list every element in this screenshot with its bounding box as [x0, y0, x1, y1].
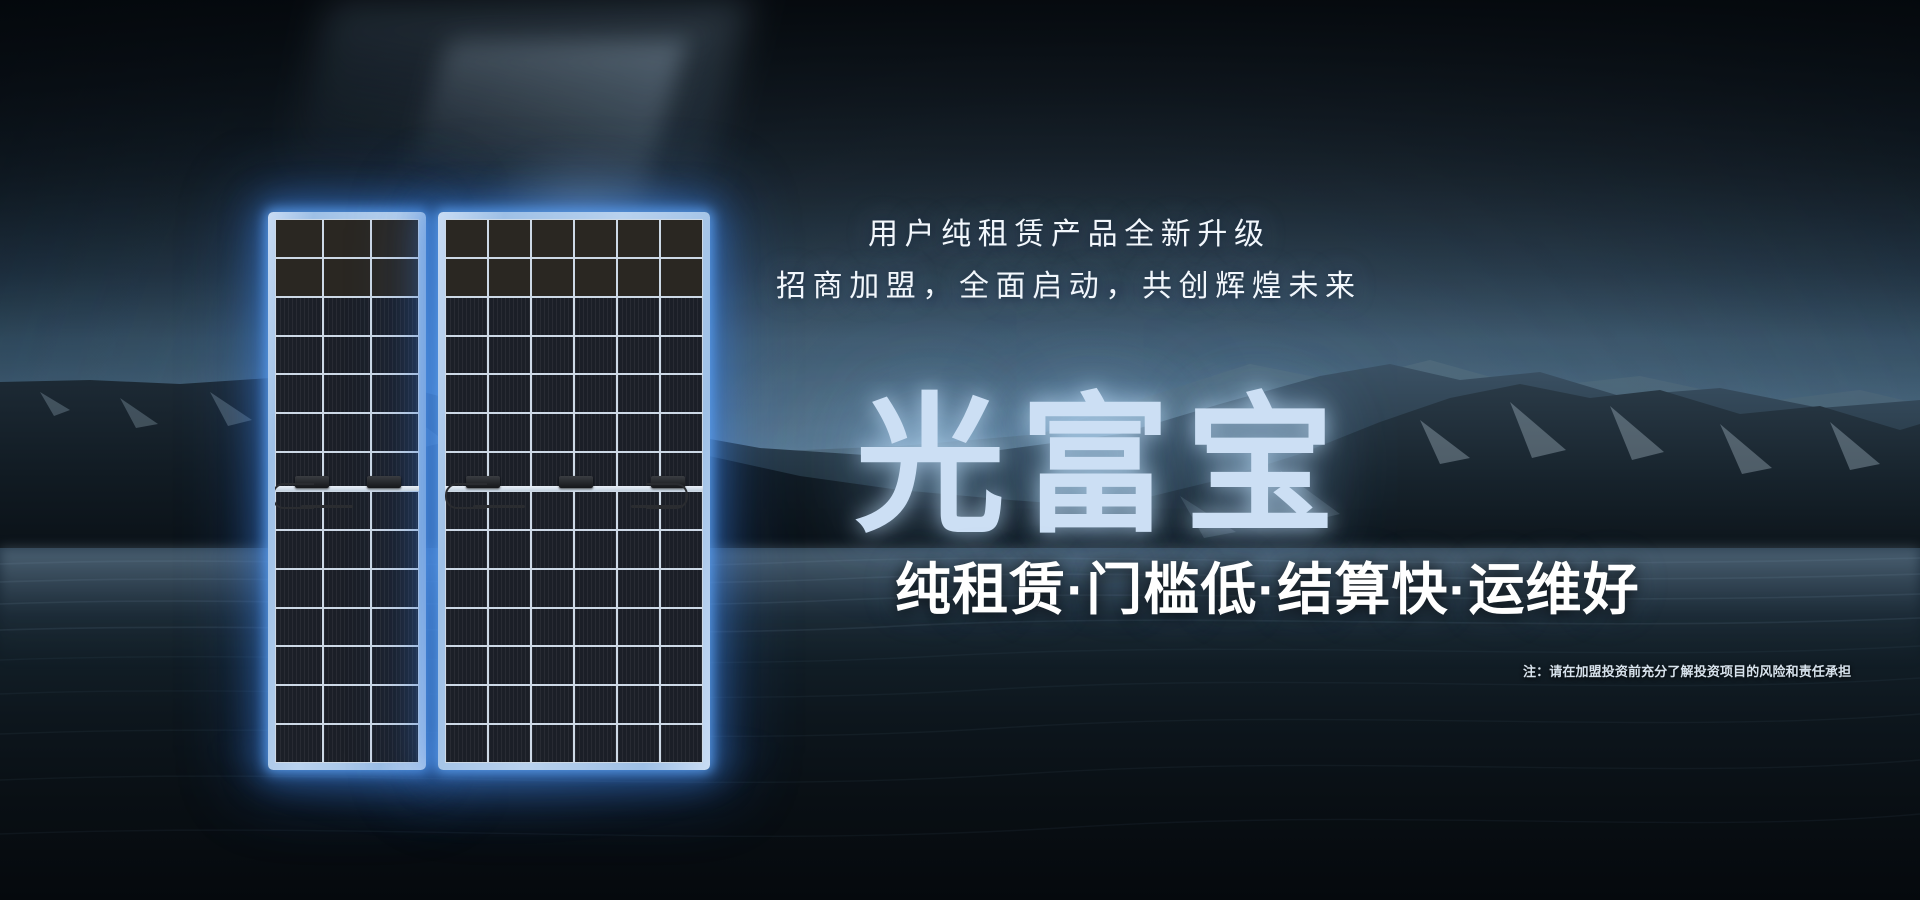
- pv-cell: [489, 337, 530, 374]
- pv-cell: [618, 570, 659, 607]
- pv-cell: [618, 531, 659, 568]
- pv-cell: [276, 531, 322, 568]
- pv-cell: [276, 647, 322, 684]
- brand-wordmark: 光富宝: [855, 345, 1350, 562]
- pv-cell: [618, 375, 659, 412]
- pv-cell: [532, 298, 573, 335]
- pv-cell: [446, 259, 487, 296]
- pv-cell: [324, 298, 370, 335]
- pv-cell: [661, 531, 702, 568]
- pv-cell: [372, 570, 418, 607]
- pv-cell: [372, 414, 418, 451]
- pv-cell: [532, 531, 573, 568]
- pv-cell: [324, 492, 370, 529]
- pv-cell: [446, 298, 487, 335]
- pv-cell: [324, 725, 370, 762]
- cable-run-icon: [473, 505, 525, 508]
- pv-cell: [661, 337, 702, 374]
- pv-cell: [276, 298, 322, 335]
- pv-cell: [276, 609, 322, 646]
- pv-cell: [324, 220, 370, 257]
- pv-cell: [532, 337, 573, 374]
- pv-cell: [372, 609, 418, 646]
- pv-cell: [575, 298, 616, 335]
- pv-cell: [489, 570, 530, 607]
- pv-cell: [372, 492, 418, 529]
- pv-cell: [276, 686, 322, 723]
- pv-cell: [372, 686, 418, 723]
- pv-cell: [446, 414, 487, 451]
- pv-cell: [661, 298, 702, 335]
- pv-cell: [372, 298, 418, 335]
- pv-cell: [489, 414, 530, 451]
- pv-cell: [372, 259, 418, 296]
- cable-run-icon: [631, 505, 683, 508]
- pv-cell: [446, 647, 487, 684]
- pv-cell: [575, 414, 616, 451]
- pv-cell: [489, 492, 530, 529]
- pv-cell: [618, 298, 659, 335]
- pv-cell: [489, 725, 530, 762]
- pv-cell: [532, 259, 573, 296]
- pv-cell: [276, 414, 322, 451]
- pv-cell: [661, 220, 702, 257]
- pv-cell: [532, 647, 573, 684]
- pv-cell: [575, 337, 616, 374]
- pv-cell: [324, 453, 370, 490]
- pv-cell: [618, 647, 659, 684]
- disclaimer-note: 注：请在加盟投资前充分了解投资项目的风险和责任承担: [1523, 661, 1851, 680]
- pv-cell: [575, 686, 616, 723]
- slogan-text: 纯租赁·门槛低·结算快·运维好: [895, 545, 1640, 626]
- pv-cell: [532, 686, 573, 723]
- pv-cell: [324, 531, 370, 568]
- pv-cell: [661, 609, 702, 646]
- pv-cell: [446, 531, 487, 568]
- pv-cell: [276, 259, 322, 296]
- pv-cell: [489, 375, 530, 412]
- pv-cell: [618, 337, 659, 374]
- pv-cell: [532, 220, 573, 257]
- pv-cell: [532, 414, 573, 451]
- pv-cell: [276, 570, 322, 607]
- pv-cell: [446, 686, 487, 723]
- pv-cell: [372, 531, 418, 568]
- pv-cell: [661, 375, 702, 412]
- pv-cell: [532, 609, 573, 646]
- pv-cell: [489, 686, 530, 723]
- pv-cell: [324, 686, 370, 723]
- pv-cell: [372, 220, 418, 257]
- pv-cell: [575, 492, 616, 529]
- pv-cell: [276, 375, 322, 412]
- pv-cell: [276, 725, 322, 762]
- pv-cell: [489, 259, 530, 296]
- pv-cell: [575, 531, 616, 568]
- pv-cell: [324, 259, 370, 296]
- pv-cell: [446, 375, 487, 412]
- pv-cell: [661, 725, 702, 762]
- pv-cell: [446, 609, 487, 646]
- pv-cell: [372, 337, 418, 374]
- pv-cell: [489, 220, 530, 257]
- pv-cell: [489, 298, 530, 335]
- module-glass-right: [445, 219, 703, 763]
- pv-cell: [575, 375, 616, 412]
- pv-cell: [661, 414, 702, 451]
- pv-cell: [324, 414, 370, 451]
- pv-cell: [661, 259, 702, 296]
- pv-cell: [532, 492, 573, 529]
- pv-cell: [324, 570, 370, 607]
- cable-run-icon: [301, 505, 353, 508]
- pv-cell: [372, 725, 418, 762]
- junction-box-icon: [559, 476, 593, 488]
- pv-cell: [446, 220, 487, 257]
- pv-cell: [324, 647, 370, 684]
- pv-cell: [446, 337, 487, 374]
- pv-cell: [661, 686, 702, 723]
- headline-line-2: 招商加盟，全面启动，共创辉煌未来: [776, 261, 1362, 305]
- pv-cell: [532, 375, 573, 412]
- banner-stage: 用户纯租赁产品全新升级 招商加盟，全面启动，共创辉煌未来 光富宝 纯租赁·门槛低…: [0, 0, 1920, 900]
- pv-cell: [618, 686, 659, 723]
- pv-cell: [276, 220, 322, 257]
- pv-cell: [575, 220, 616, 257]
- pv-cell: [661, 647, 702, 684]
- pv-cell: [575, 570, 616, 607]
- pv-cell: [276, 337, 322, 374]
- pv-cell: [324, 337, 370, 374]
- pv-cell: [661, 570, 702, 607]
- pv-cell: [618, 609, 659, 646]
- pv-cell: [324, 609, 370, 646]
- headline-line-1: 用户纯租赁产品全新升级: [868, 209, 1271, 253]
- pv-cell: [618, 414, 659, 451]
- pv-cell: [489, 647, 530, 684]
- pv-cell: [489, 531, 530, 568]
- pv-cell: [575, 259, 616, 296]
- pv-cell: [372, 647, 418, 684]
- pv-cell: [532, 725, 573, 762]
- junction-box-icon: [367, 476, 401, 488]
- pv-cell: [618, 725, 659, 762]
- pv-cell: [324, 375, 370, 412]
- module-glass-left: [275, 219, 419, 763]
- pv-cell: [618, 220, 659, 257]
- solar-module-right[interactable]: [438, 212, 710, 770]
- pv-cell: [446, 570, 487, 607]
- pv-cell: [575, 647, 616, 684]
- solar-module-left[interactable]: [268, 212, 426, 770]
- pv-cell: [446, 725, 487, 762]
- pv-cell: [489, 609, 530, 646]
- pv-cell: [575, 609, 616, 646]
- pv-cell: [372, 375, 418, 412]
- pv-cell: [532, 570, 573, 607]
- solar-panel-array[interactable]: [268, 212, 710, 770]
- pv-cell: [575, 725, 616, 762]
- pv-cell: [618, 259, 659, 296]
